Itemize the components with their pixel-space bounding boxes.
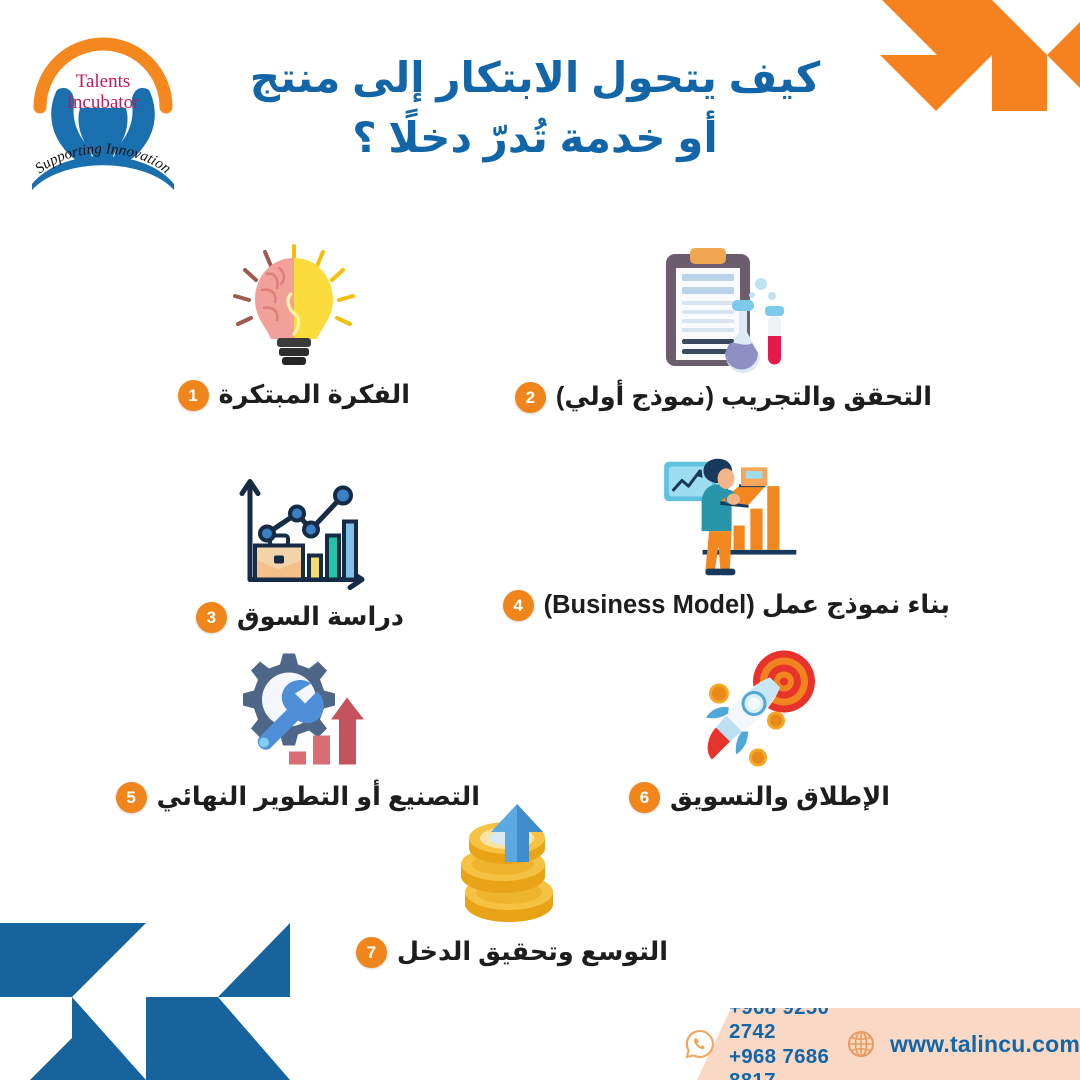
logo-line2: Incubator bbox=[67, 92, 140, 113]
step-row-3: 3 دراسة السوق bbox=[196, 602, 404, 633]
step-label-2: التحقق والتجريب (نموذج أولي) bbox=[556, 385, 932, 411]
step-item-4: 4 بناء نموذج عمل (Business Model) bbox=[503, 448, 950, 621]
title-line-1: كيف يتحول الابتكار إلى منتج bbox=[250, 54, 820, 101]
step-row-1: 1 الفكرة المبتكرة bbox=[178, 380, 410, 411]
step-item-3: 3 دراسة السوق bbox=[196, 460, 404, 633]
coins-up-arrow-icon bbox=[437, 795, 587, 935]
step-item-6: 6 الإطلاق والتسويق bbox=[629, 640, 890, 813]
step-row-2: 2 التحقق والتجريب (نموذج أولي) bbox=[515, 382, 932, 413]
phone-number-2[interactable]: +968 7686 8817 bbox=[729, 1045, 832, 1080]
website-url[interactable]: www.talincu.com bbox=[890, 1031, 1080, 1058]
step-item-5: 5 التصنيع أو التطوير النهائي bbox=[116, 640, 480, 813]
rocket-target-coins-icon bbox=[684, 640, 834, 780]
phone-number-1[interactable]: +968 9250 2742 bbox=[729, 1008, 832, 1044]
step-row-6: 6 الإطلاق والتسويق bbox=[629, 782, 890, 813]
logo: Talents Incubator Supporting Innovation bbox=[18, 12, 188, 192]
step-label-7: التوسع وتحقيق الدخل bbox=[397, 940, 668, 966]
step-label-3: دراسة السوق bbox=[237, 605, 404, 631]
step-badge-2: 2 bbox=[515, 382, 546, 413]
corner-decoration-top-right bbox=[870, 0, 1080, 120]
brain-lightbulb-icon bbox=[219, 238, 369, 378]
phone-numbers: +968 9250 2742 +968 7686 8817 bbox=[729, 1008, 832, 1080]
person-laptop-chart-icon bbox=[651, 448, 801, 588]
step-badge-7: 7 bbox=[356, 937, 387, 968]
step-label-4: بناء نموذج عمل (Business Model) bbox=[544, 593, 950, 619]
step-label-6: الإطلاق والتسويق bbox=[670, 785, 890, 811]
market-analysis-chart-icon bbox=[225, 460, 375, 600]
whatsapp-phone-icon[interactable] bbox=[685, 1029, 715, 1059]
corner-decoration-bottom-left bbox=[0, 915, 310, 1080]
step-badge-4: 4 bbox=[503, 590, 534, 621]
infographic-canvas: Talents Incubator Supporting Innovation … bbox=[0, 0, 1080, 1080]
step-item-7: 7 التوسع وتحقيق الدخل bbox=[356, 795, 668, 968]
step-badge-1: 1 bbox=[178, 380, 209, 411]
logo-line1: Talents bbox=[76, 71, 131, 92]
page-title: كيف يتحول الابتكار إلى منتج أو خدمة تُدر… bbox=[215, 48, 855, 167]
step-row-7: 7 التوسع وتحقيق الدخل bbox=[356, 937, 668, 968]
title-line-2: أو خدمة تُدرّ دخلًا ؟ bbox=[215, 108, 855, 168]
step-item-2: 2 التحقق والتجريب (نموذج أولي) bbox=[515, 240, 932, 413]
gear-wrench-growth-icon bbox=[223, 640, 373, 780]
step-label-1: الفكرة المبتكرة bbox=[219, 383, 410, 409]
step-item-1: 1 الفكرة المبتكرة bbox=[178, 238, 410, 411]
footer-contact-bar: +968 9250 2742 +968 7686 8817 www.talinc… bbox=[655, 1008, 1080, 1080]
globe-icon[interactable] bbox=[846, 1029, 876, 1059]
step-row-4: 4 بناء نموذج عمل (Business Model) bbox=[503, 590, 950, 621]
step-badge-5: 5 bbox=[116, 782, 147, 813]
clipboard-lab-test-icon bbox=[648, 240, 798, 380]
step-badge-3: 3 bbox=[196, 602, 227, 633]
